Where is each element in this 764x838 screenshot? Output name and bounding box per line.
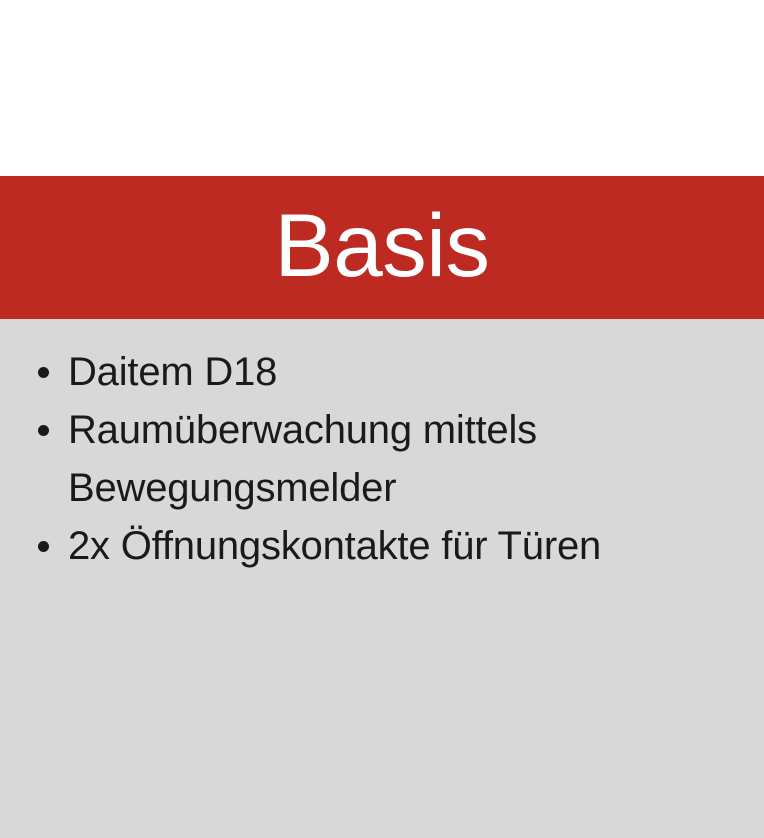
list-item: Raumüberwachung mittels Bewegungsmelder — [20, 401, 744, 517]
card-body-panel: Daitem D18 Raumüberwachung mittels Beweg… — [0, 319, 764, 838]
pricing-tier-card: Basis Daitem D18 Raumüberwachung mittels… — [0, 0, 764, 838]
card-header-band: Basis — [0, 176, 764, 319]
bullet-dot-icon — [38, 425, 49, 436]
feature-item-label: Daitem D18 — [68, 343, 744, 401]
card-top-spacer — [0, 0, 764, 176]
card-title: Basis — [274, 201, 489, 294]
bullet-dot-icon — [38, 541, 49, 552]
feature-item-label: Raumüberwachung mittels Bewegungsmelder — [68, 401, 744, 517]
list-item: Daitem D18 — [20, 343, 744, 401]
feature-item-label: 2x Öffnungskontakte für Türen — [68, 517, 744, 575]
list-item: 2x Öffnungskontakte für Türen — [20, 517, 744, 575]
bullet-dot-icon — [38, 367, 49, 378]
feature-list: Daitem D18 Raumüberwachung mittels Beweg… — [20, 343, 744, 575]
